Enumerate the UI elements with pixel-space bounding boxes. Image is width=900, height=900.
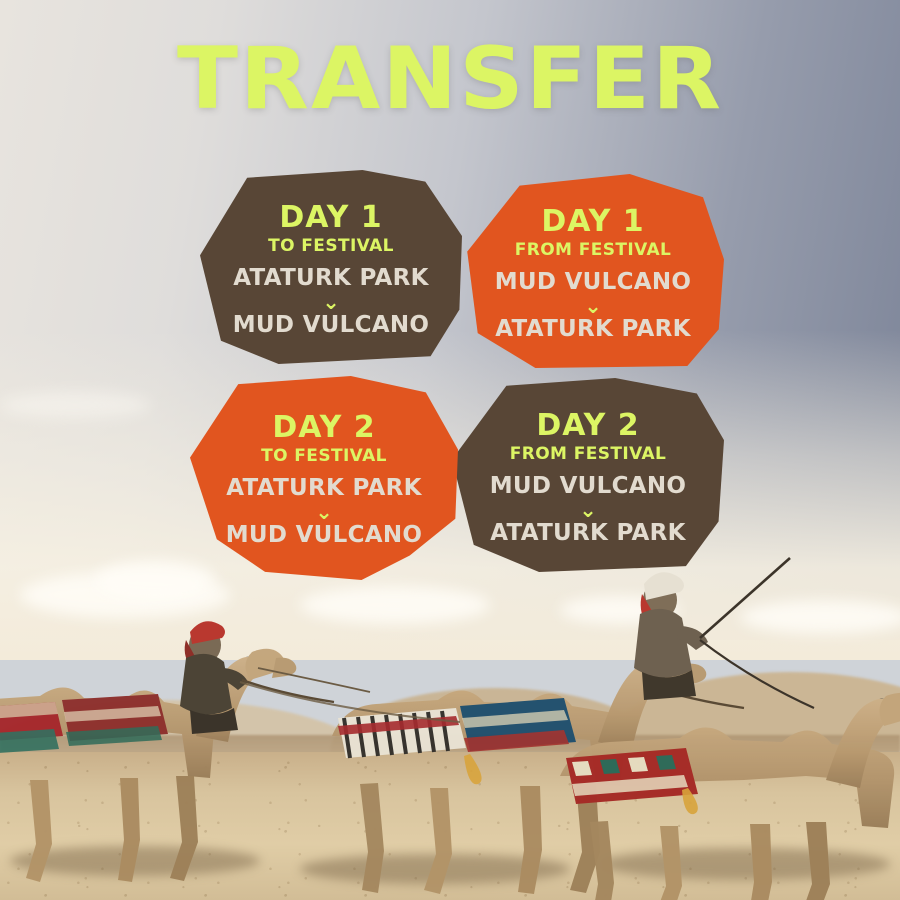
chevron-down-icon: ⌄ [584, 297, 602, 316]
badge-direction-label: FROM FESTIVAL [510, 443, 667, 465]
page-title: TRANSFER [0, 36, 900, 122]
transfer-poster: TRANSFER DAY 1 TO FESTIVAL ATATURK PARK … [0, 0, 900, 900]
transfer-badge-day2-to-festival[interactable]: DAY 2 TO FESTIVAL ATATURK PARK ⌄ MUD VUL… [190, 376, 458, 580]
transfer-badge-day2-from-festival[interactable]: DAY 2 FROM FESTIVAL MUD VULCANO ⌄ ATATUR… [452, 378, 724, 572]
badge-destination: MUD VULCANO [233, 313, 430, 339]
transfer-badge-group: DAY 1 TO FESTIVAL ATATURK PARK ⌄ MUD VUL… [0, 0, 900, 900]
badge-day-label: DAY 1 [279, 202, 382, 234]
badge-day-label: DAY 1 [541, 206, 644, 238]
chevron-down-icon: ⌄ [579, 501, 597, 520]
badge-day-label: DAY 2 [536, 410, 639, 442]
chevron-down-icon: ⌄ [315, 503, 333, 522]
transfer-badge-day1-to-festival[interactable]: DAY 1 TO FESTIVAL ATATURK PARK ⌄ MUD VUL… [200, 170, 462, 364]
badge-origin: ATATURK PARK [233, 266, 429, 292]
transfer-badge-day1-from-festival[interactable]: DAY 1 FROM FESTIVAL MUD VULCANO ⌄ ATATUR… [462, 174, 724, 368]
badge-direction-label: FROM FESTIVAL [515, 239, 672, 261]
badge-destination: ATATURK PARK [495, 317, 691, 343]
badge-destination: ATATURK PARK [490, 521, 686, 547]
badge-origin: ATATURK PARK [226, 476, 422, 502]
chevron-down-icon: ⌄ [322, 293, 340, 312]
badge-day-label: DAY 2 [272, 412, 375, 444]
badge-direction-label: TO FESTIVAL [268, 235, 394, 257]
badge-origin: MUD VULCANO [490, 474, 687, 500]
badge-direction-label: TO FESTIVAL [261, 445, 387, 467]
badge-destination: MUD VULCANO [226, 523, 423, 549]
badge-origin: MUD VULCANO [495, 270, 692, 296]
